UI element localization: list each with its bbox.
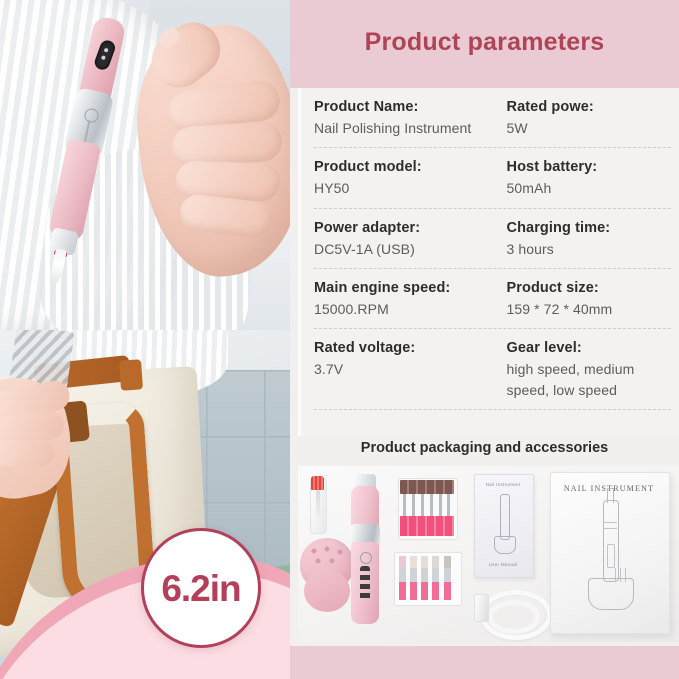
photo-hand-holding-device bbox=[0, 0, 290, 330]
device-control-buttons bbox=[360, 566, 370, 600]
spec-row: Main engine speed:15000.RPMProduct size:… bbox=[314, 269, 671, 329]
accessory-main-device bbox=[350, 474, 380, 624]
spec-row: Product Name:Nail Polishing InstrumentRa… bbox=[314, 88, 671, 148]
manual-title: Nail Instrument bbox=[474, 482, 532, 487]
accessory-metal-bit-shafts bbox=[400, 494, 454, 518]
bag-leather-tab bbox=[119, 359, 143, 390]
accessory-metal-bit-foam bbox=[400, 516, 454, 536]
box-pen-seam-drawing bbox=[603, 522, 617, 523]
retail-box-illustration bbox=[588, 500, 632, 618]
manual-stand-drawing bbox=[494, 536, 516, 554]
device-logo-icon bbox=[360, 552, 372, 564]
spec-value: 3.7V bbox=[314, 359, 487, 379]
spec-cell-right: Host battery:50mAh bbox=[493, 157, 672, 198]
accessory-usb-cable-loop bbox=[488, 600, 540, 634]
packaging-accessories-photo: Nail Instrument User Manual NAIL INSTRUM… bbox=[298, 466, 679, 642]
lifestyle-photo-column: 6.2in bbox=[0, 0, 290, 679]
spec-cell-right: Gear level:high speed, medium speed, low… bbox=[493, 338, 672, 400]
spec-row: Power adapter:DC5V-1A (USB)Charging time… bbox=[314, 209, 671, 269]
spec-value: 3 hours bbox=[507, 239, 666, 259]
spec-table: Product Name:Nail Polishing InstrumentRa… bbox=[298, 88, 679, 436]
box-stand-drawing bbox=[588, 578, 634, 610]
finger-c bbox=[0, 440, 54, 466]
spec-label: Rated powe: bbox=[507, 97, 666, 118]
spec-label: Host battery: bbox=[507, 157, 666, 178]
manual-pen-drawing bbox=[500, 494, 510, 540]
spec-label: Rated voltage: bbox=[314, 338, 487, 359]
spec-label: Product size: bbox=[507, 278, 666, 299]
spec-value: 50mAh bbox=[507, 178, 666, 198]
spec-label: Product Name: bbox=[314, 97, 487, 118]
spec-label: Product model: bbox=[314, 157, 487, 178]
spec-cell-right: Charging time:3 hours bbox=[493, 218, 672, 259]
footer-band bbox=[290, 646, 679, 679]
manual-footer-label: User Manual bbox=[474, 562, 532, 567]
spec-label: Main engine speed: bbox=[314, 278, 487, 299]
spec-cell-right: Product size:159 * 72 * 40mm bbox=[493, 278, 672, 319]
packaging-section-title: Product packaging and accessories bbox=[290, 440, 679, 456]
specification-panel: Product parameters Product Name:Nail Pol… bbox=[290, 0, 679, 679]
size-badge-label: 6.2in bbox=[161, 570, 240, 607]
spec-value: 159 * 72 * 40mm bbox=[507, 299, 666, 319]
spec-cell-right: Rated powe:5W bbox=[493, 97, 672, 138]
spec-value: Nail Polishing Instrument bbox=[314, 118, 487, 138]
spec-value: HY50 bbox=[314, 178, 487, 198]
spec-label: Power adapter: bbox=[314, 218, 487, 239]
accessory-holder-holes bbox=[308, 546, 346, 570]
accessory-tube-bit bbox=[316, 490, 320, 520]
spec-cell-left: Product model:HY50 bbox=[314, 157, 493, 198]
manual-illustration bbox=[494, 494, 514, 556]
spec-value: high speed, medium speed, low speed bbox=[507, 359, 666, 400]
accessory-metal-bit-heads bbox=[400, 480, 454, 494]
spec-label: Charging time: bbox=[507, 218, 666, 239]
spec-cell-left: Rated voltage:3.7V bbox=[314, 338, 493, 400]
spec-value: DC5V-1A (USB) bbox=[314, 239, 487, 259]
page-title: Product parameters bbox=[290, 28, 679, 57]
box-pen-buttons-drawing bbox=[607, 544, 615, 568]
spec-cell-left: Product Name:Nail Polishing Instrument bbox=[314, 97, 493, 138]
accessory-bit-tube-cap bbox=[311, 476, 324, 490]
accessory-usb-plug bbox=[474, 594, 489, 622]
spec-row: Product model:HY50Host battery:50mAh bbox=[314, 148, 671, 208]
accessory-holder-base bbox=[304, 570, 350, 612]
spec-label: Gear level: bbox=[507, 338, 666, 359]
spec-cell-left: Power adapter:DC5V-1A (USB) bbox=[314, 218, 493, 259]
spec-row: Rated voltage:3.7VGear level:high speed,… bbox=[314, 329, 671, 410]
size-badge: 6.2in bbox=[141, 528, 261, 648]
spec-value: 5W bbox=[507, 118, 666, 138]
finger-middle bbox=[171, 120, 284, 168]
spec-cell-left: Main engine speed:15000.RPM bbox=[314, 278, 493, 319]
accessory-ceramic-bits bbox=[398, 556, 456, 600]
product-infographic: 6.2in Product parameters Product Name:Na… bbox=[0, 0, 679, 679]
spec-value: 15000.RPM bbox=[314, 299, 487, 319]
